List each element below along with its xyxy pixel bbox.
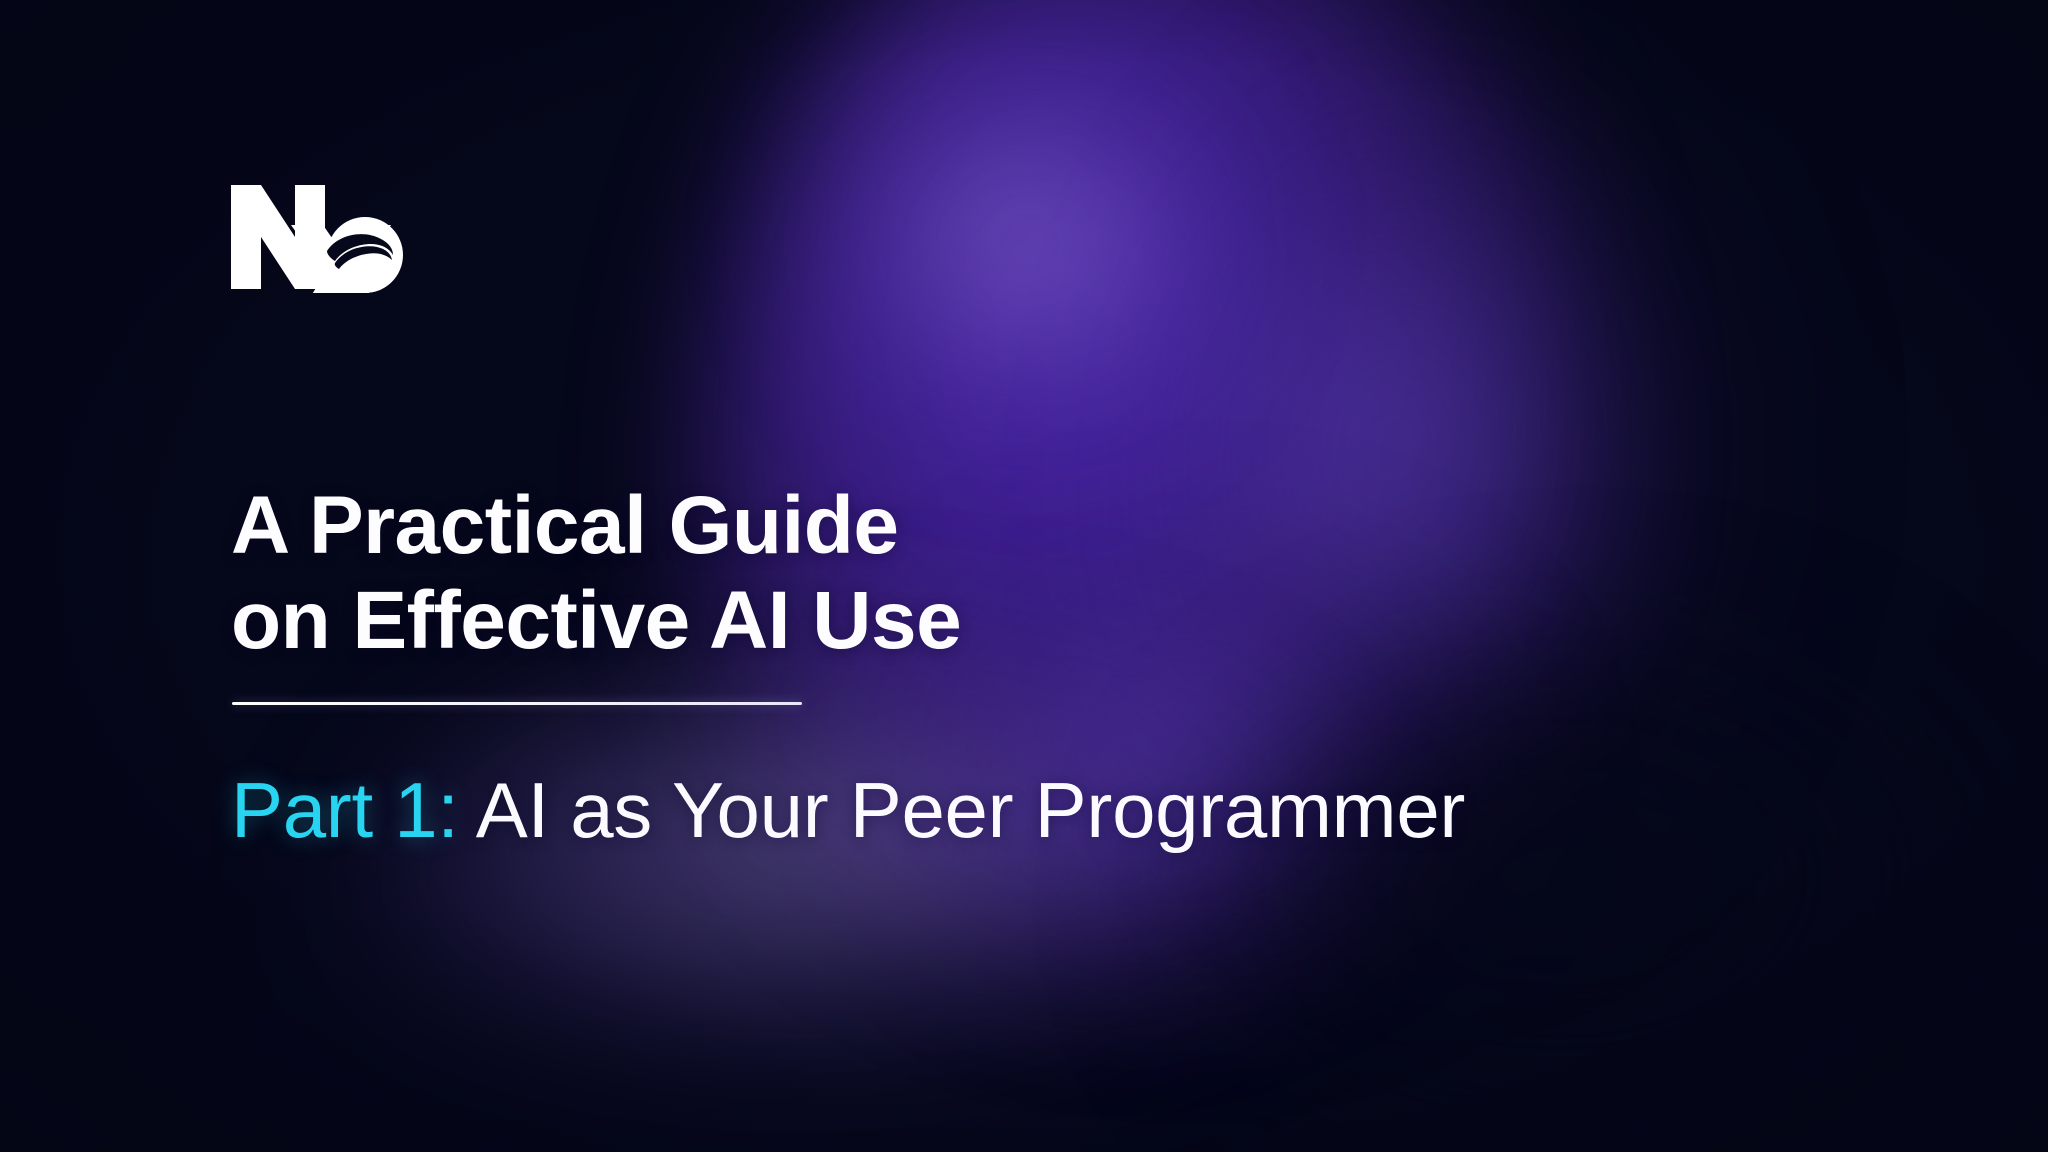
nx-logo-icon xyxy=(231,181,407,293)
slide-content: A Practical Guide on Effective AI Use Pa… xyxy=(0,0,2048,1152)
page-title: A Practical Guide on Effective AI Use xyxy=(231,478,1531,668)
subtitle: Part 1: AI as Your Peer Programmer xyxy=(231,768,1951,854)
slide-canvas: A Practical Guide on Effective AI Use Pa… xyxy=(0,0,2048,1152)
title-divider xyxy=(232,702,802,705)
subtitle-text: AI as Your Peer Programmer xyxy=(459,766,1465,854)
subtitle-part-label: Part 1: xyxy=(231,766,459,854)
